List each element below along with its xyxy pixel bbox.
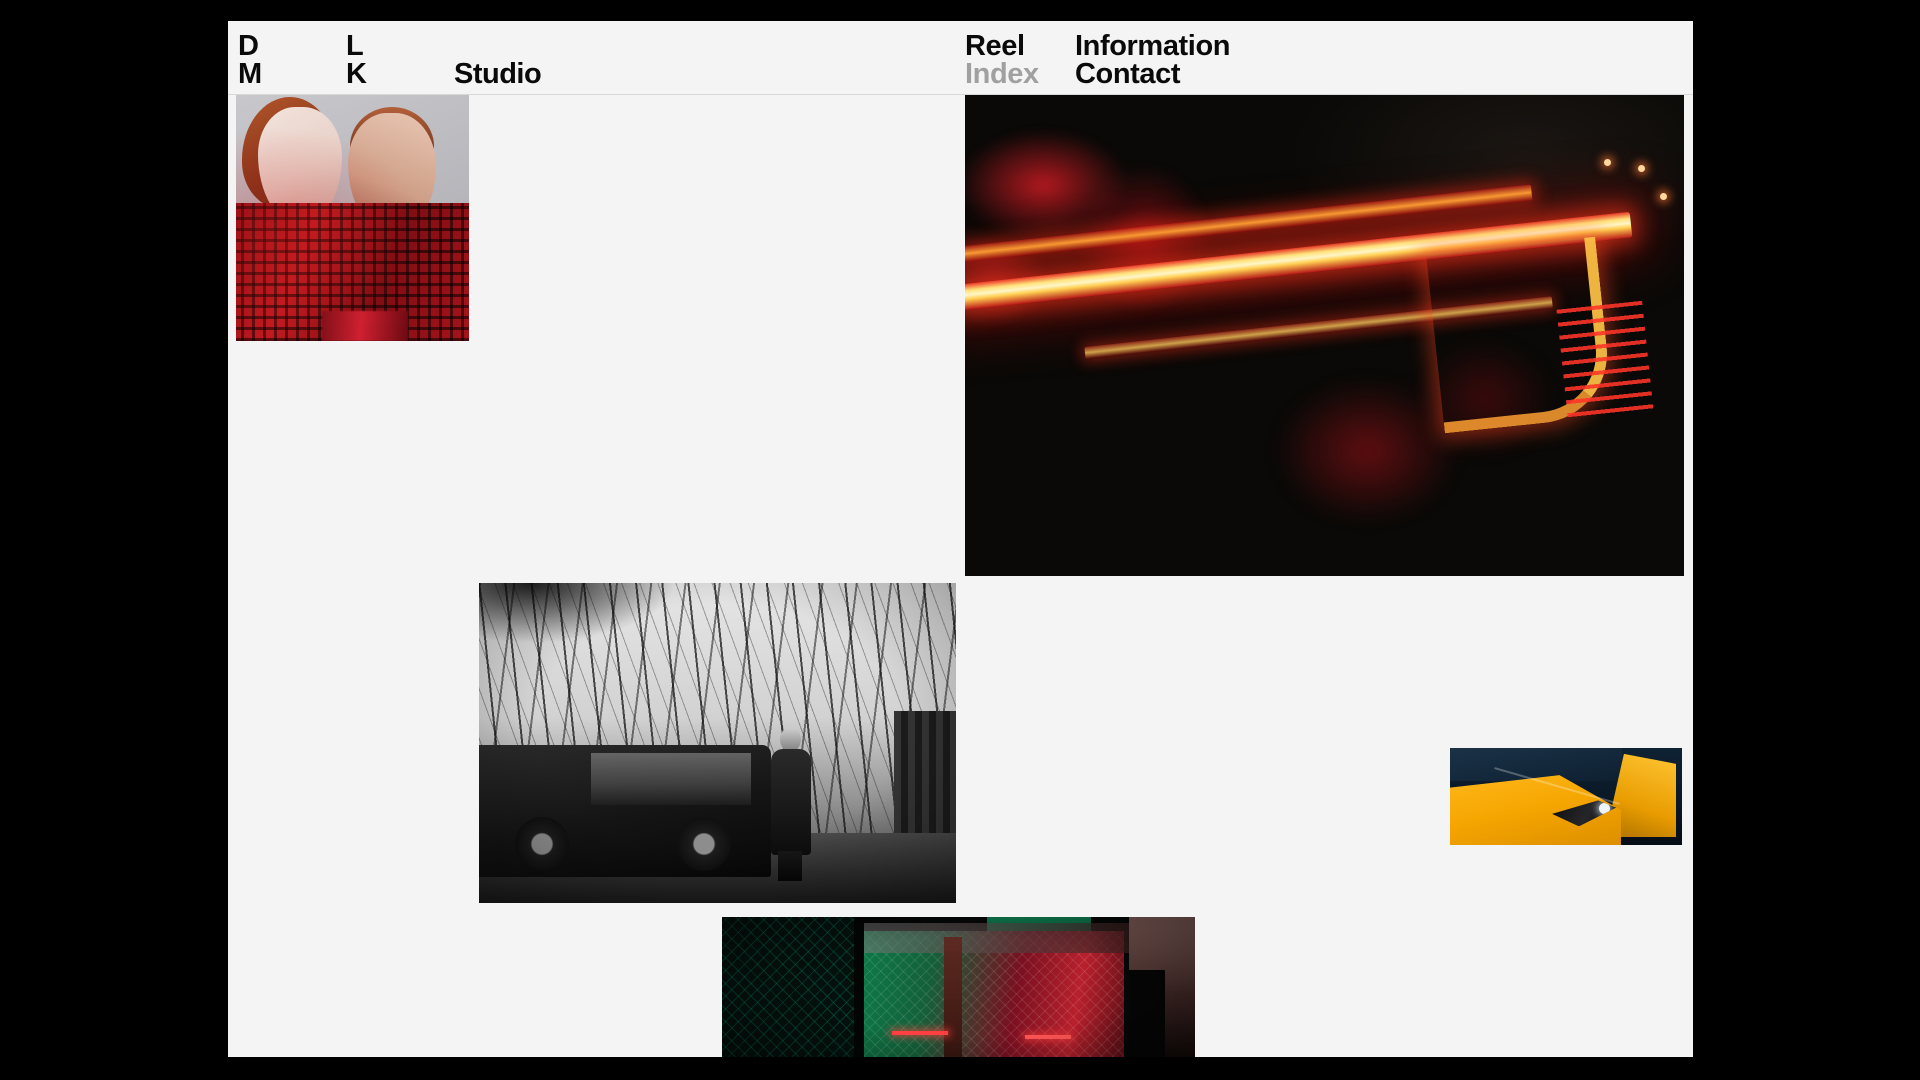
logo-mark-dm[interactable]: D M bbox=[238, 32, 262, 88]
gallery-item-neon-parking-garage[interactable] bbox=[722, 917, 1195, 1057]
site-header: D M L K Studio Reel Index Information Co… bbox=[228, 21, 1693, 95]
primary-nav-column-two: Information Contact bbox=[1075, 32, 1230, 88]
nav-item-contact[interactable]: Contact bbox=[1075, 60, 1230, 88]
nav-item-information[interactable]: Information bbox=[1075, 32, 1230, 60]
logo-word-studio[interactable]: Studio bbox=[454, 60, 541, 88]
nav-item-reel[interactable]: Reel bbox=[965, 32, 1039, 60]
taillight-artwork bbox=[965, 95, 1684, 576]
gallery-item-defender-winter-woods[interactable] bbox=[479, 583, 956, 903]
gallery-item-models-red-pattern[interactable] bbox=[236, 95, 469, 341]
models-artwork bbox=[236, 95, 469, 341]
gallery-item-yellow-supercar[interactable] bbox=[1450, 748, 1682, 845]
supercar-artwork bbox=[1450, 748, 1682, 845]
primary-nav-column-one: Reel Index bbox=[965, 32, 1039, 88]
logo-mark-lk[interactable]: L K bbox=[346, 32, 367, 88]
garage-artwork bbox=[722, 917, 1195, 1057]
gallery-item-car-taillight-red-smoke[interactable] bbox=[965, 95, 1684, 576]
page-sheet: D M L K Studio Reel Index Information Co… bbox=[228, 21, 1693, 1057]
defender-artwork bbox=[479, 583, 956, 903]
nav-item-index[interactable]: Index bbox=[965, 60, 1039, 88]
